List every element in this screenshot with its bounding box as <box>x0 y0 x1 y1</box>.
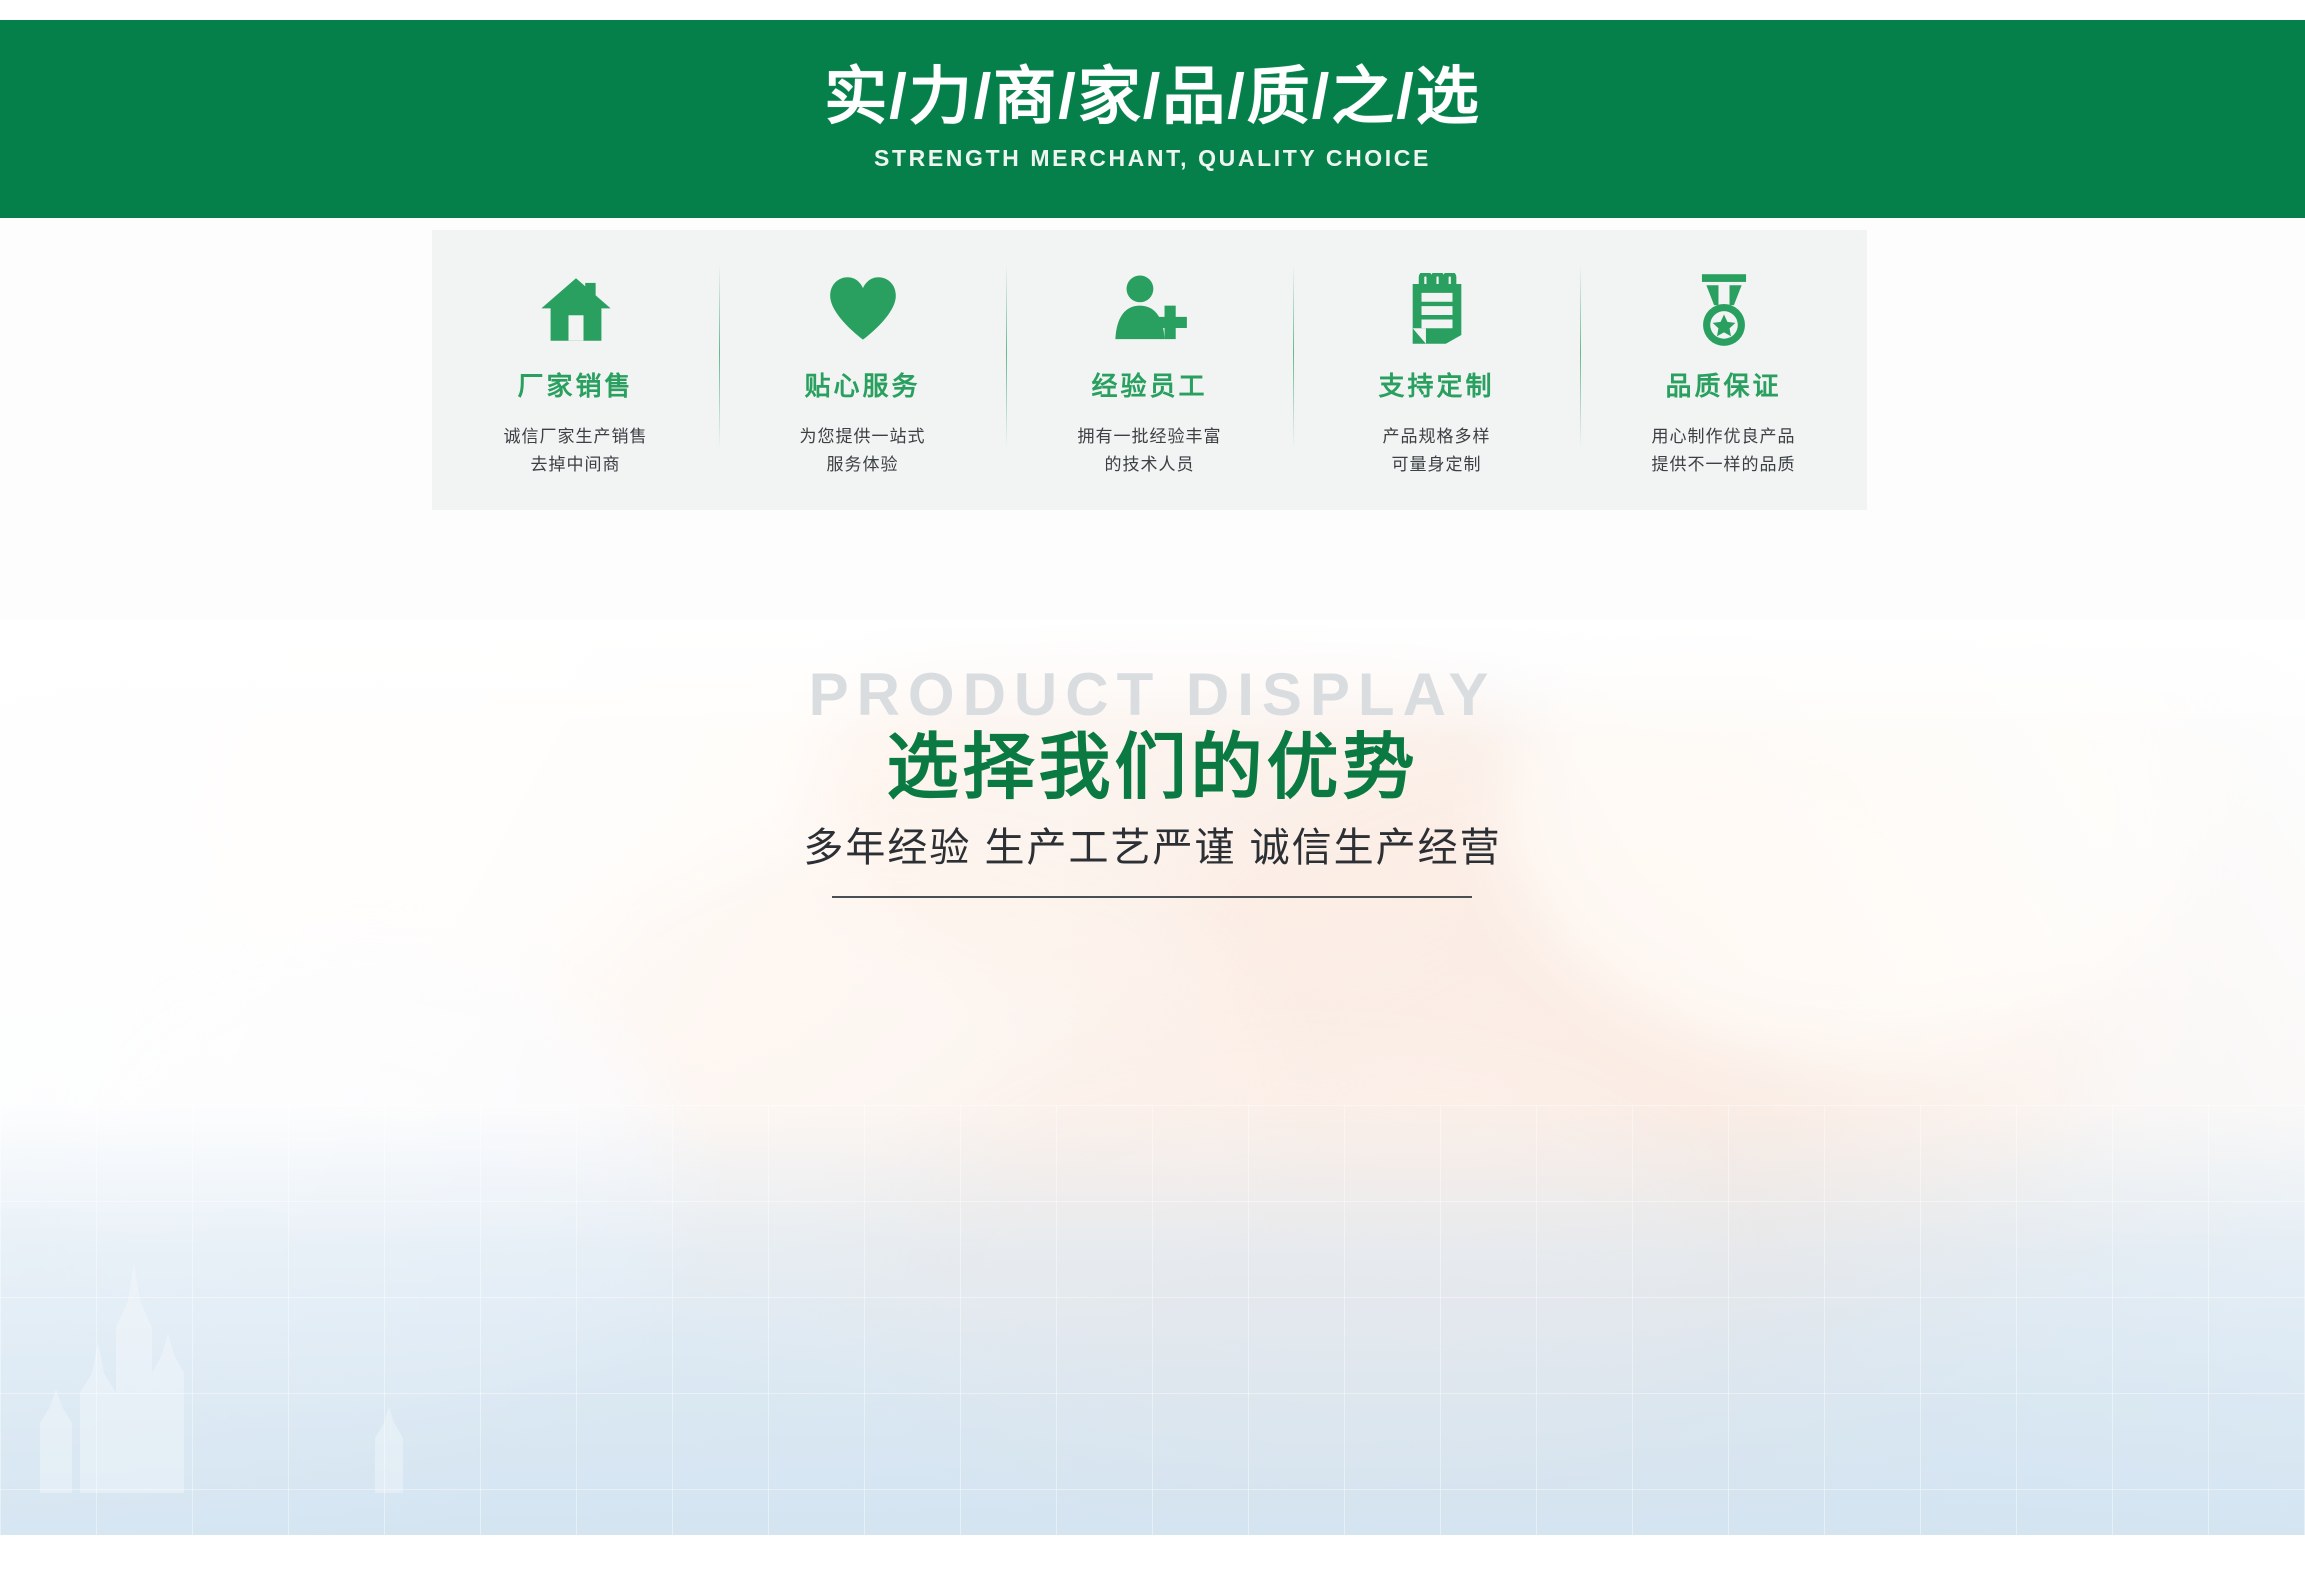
feature-item: 品质保证 用心制作优良产品 提供不一样的品质 <box>1580 230 1867 510</box>
feature-desc-line1: 产品规格多样 <box>1383 427 1491 446</box>
features-section: 厂家销售 诚信厂家生产销售 去掉中间商 贴心服务 为您提供一站式 服务体验 <box>0 218 2305 620</box>
feature-desc-line2: 去掉中间商 <box>531 455 621 474</box>
medal-icon <box>1679 270 1769 348</box>
feature-desc-line2: 提供不一样的品质 <box>1652 455 1796 474</box>
feature-title: 贴心服务 <box>804 366 920 403</box>
hero-banner: 实/力/商/家/品/质/之/选 STRENGTH MERCHANT, QUALI… <box>0 20 2305 218</box>
feature-title: 支持定制 <box>1378 366 1494 403</box>
hero-subtitle: STRENGTH MERCHANT, QUALITY CHOICE <box>874 145 1431 172</box>
heart-icon <box>818 270 908 348</box>
feature-desc: 产品规格多样 可量身定制 <box>1383 423 1491 479</box>
advantage-subtitle: 多年经验 生产工艺严谨 诚信生产经营 <box>0 815 2305 873</box>
feature-desc-line2: 可量身定制 <box>1392 455 1482 474</box>
notepad-icon <box>1392 270 1482 348</box>
promo-page: 实/力/商/家/品/质/之/选 STRENGTH MERCHANT, QUALI… <box>0 0 2305 1577</box>
feature-item: 经验员工 拥有一批经验丰富 的技术人员 <box>1006 230 1293 510</box>
heading-divider <box>832 896 1472 898</box>
feature-desc: 用心制作优良产品 提供不一样的品质 <box>1652 423 1796 479</box>
add-user-icon <box>1105 270 1195 348</box>
feature-desc: 诚信厂家生产销售 去掉中间商 <box>504 423 648 479</box>
advantage-section: PRODUCT DISPLAY 选择我们的优势 多年经验 生产工艺严谨 诚信生产… <box>0 620 2305 1535</box>
feature-title: 经验员工 <box>1091 366 1207 403</box>
feature-desc: 拥有一批经验丰富 的技术人员 <box>1078 423 1222 479</box>
hero-title: 实/力/商/家/品/质/之/选 <box>824 66 1481 129</box>
feature-item: 厂家销售 诚信厂家生产销售 去掉中间商 <box>432 230 719 510</box>
advantage-heading: 选择我们的优势 <box>0 708 2305 813</box>
feature-desc-line2: 服务体验 <box>827 455 899 474</box>
feature-desc-line1: 用心制作优良产品 <box>1652 427 1796 446</box>
feature-item: 支持定制 产品规格多样 可量身定制 <box>1293 230 1580 510</box>
feature-desc: 为您提供一站式 服务体验 <box>800 423 926 479</box>
feature-desc-line1: 拥有一批经验丰富 <box>1078 427 1222 446</box>
house-icon <box>531 270 621 348</box>
feature-item: 贴心服务 为您提供一站式 服务体验 <box>719 230 1006 510</box>
features-panel: 厂家销售 诚信厂家生产销售 去掉中间商 贴心服务 为您提供一站式 服务体验 <box>432 230 1867 510</box>
feature-title: 品质保证 <box>1665 366 1781 403</box>
feature-desc-line1: 诚信厂家生产销售 <box>504 427 648 446</box>
feature-desc-line2: 的技术人员 <box>1105 455 1195 474</box>
feature-desc-line1: 为您提供一站式 <box>800 427 926 446</box>
feature-title: 厂家销售 <box>517 366 633 403</box>
